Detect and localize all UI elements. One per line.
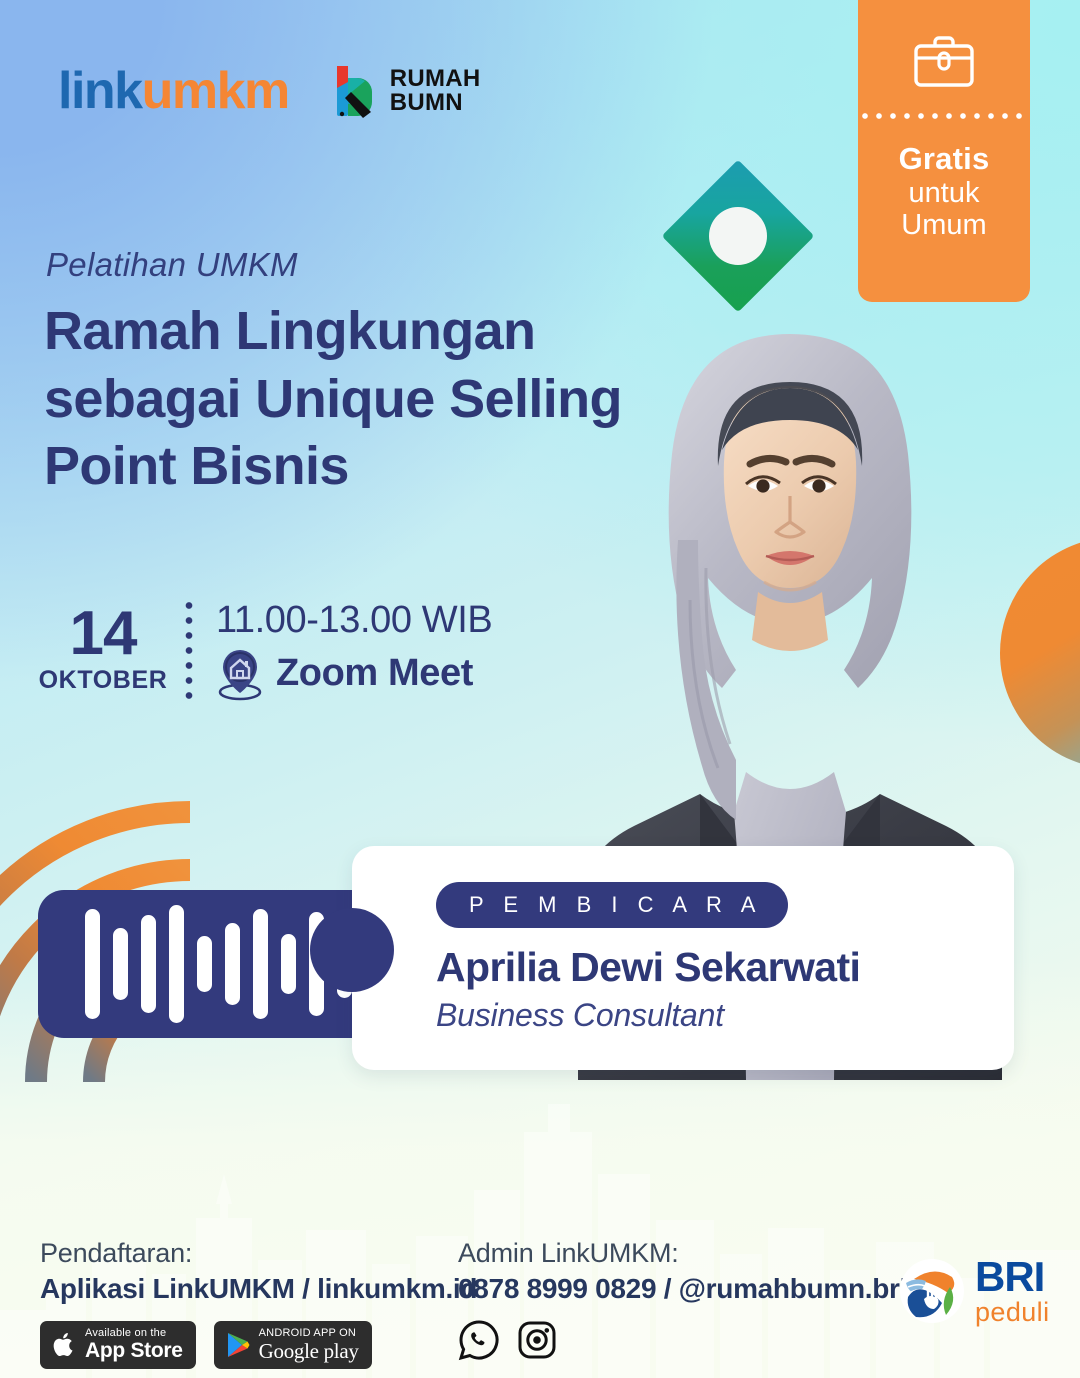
bri-peduli-mark-icon bbox=[898, 1257, 966, 1325]
waveform-bar-2 bbox=[113, 928, 128, 999]
vertical-dotted-divider-icon bbox=[184, 598, 194, 704]
googleplay-text: ANDROID APP ON Google play bbox=[259, 1328, 359, 1362]
waveform-bar-4 bbox=[169, 905, 184, 1023]
poster-canvas: linkumkm RUMAH BUMN bbox=[0, 0, 1080, 1378]
event-time: 11.00-13.00 WIB bbox=[216, 600, 492, 642]
google-play-icon bbox=[225, 1330, 251, 1360]
app-store-badges: Available on the App Store ANDROID APP O… bbox=[40, 1321, 477, 1369]
registration-value: Aplikasi LinkUMKM / linkumkm.id bbox=[40, 1273, 477, 1305]
bri-peduli-text: BRI peduli bbox=[975, 1256, 1049, 1326]
rumah-line-2: BUMN bbox=[390, 91, 481, 115]
waveform-bar-3 bbox=[141, 915, 156, 1013]
waveform-bar-1 bbox=[85, 909, 100, 1019]
event-platform: Zoom Meet bbox=[276, 652, 473, 695]
googleplay-big-text: Google play bbox=[259, 1340, 359, 1362]
appstore-big-text: App Store bbox=[85, 1340, 183, 1362]
bri-line-2: peduli bbox=[975, 1299, 1049, 1326]
event-time-place: 11.00-13.00 WIB Zoom Meet bbox=[216, 600, 492, 702]
waveform-bar-6 bbox=[225, 923, 240, 1006]
linkumkm-part1: link bbox=[58, 62, 142, 120]
map-pin-house-icon bbox=[216, 646, 264, 702]
bri-line-1: BRI bbox=[975, 1256, 1049, 1298]
linkumkm-part2: umkm bbox=[142, 62, 289, 120]
googleplay-button[interactable]: ANDROID APP ON Google play bbox=[214, 1321, 372, 1369]
registration-label: Pendaftaran: bbox=[40, 1238, 477, 1269]
speaker-name: Aprilia Dewi Sekarwati bbox=[436, 944, 1014, 991]
event-datetime-block: 14 OKTOBER 11.00-13.00 WIB Zoom Meet bbox=[28, 598, 492, 704]
badge-line-2: untuk bbox=[899, 177, 990, 209]
badge-line-3: Umum bbox=[899, 209, 990, 241]
rumah-bumn-logo[interactable]: RUMAH BUMN bbox=[329, 62, 481, 120]
social-icons-row bbox=[458, 1319, 907, 1361]
headline-kicker: Pelatihan UMKM bbox=[46, 246, 298, 284]
linkumkm-wordmark-icon[interactable]: linkumkm bbox=[58, 65, 289, 117]
waveform-bar-7 bbox=[253, 909, 268, 1019]
registration-block: Pendaftaran: Aplikasi LinkUMKM / linkumk… bbox=[40, 1238, 477, 1369]
apple-icon bbox=[51, 1330, 77, 1360]
speaker-card: P E M B I C A R A Aprilia Dewi Sekarwati… bbox=[352, 846, 1014, 1070]
badge-text: Gratis untuk Umum bbox=[899, 142, 990, 242]
bri-peduli-logo: BRI peduli bbox=[898, 1256, 1049, 1326]
briefcase-icon bbox=[913, 34, 975, 88]
rumah-line-1: RUMAH bbox=[390, 67, 481, 91]
speaker-role: Business Consultant bbox=[436, 997, 1014, 1034]
admin-value: 0878 8999 0829 / @rumahbumn.bri bbox=[458, 1273, 907, 1305]
appstore-button[interactable]: Available on the App Store bbox=[40, 1321, 196, 1369]
logo-row: linkumkm RUMAH BUMN bbox=[58, 62, 481, 120]
badge-dotted-divider bbox=[858, 112, 1030, 120]
rumah-bumn-mark-icon bbox=[329, 62, 379, 120]
event-date: 14 OKTOBER bbox=[28, 607, 178, 695]
event-date-month: OKTOBER bbox=[28, 666, 178, 695]
speaker-label-badge: P E M B I C A R A bbox=[436, 882, 788, 928]
rumah-bumn-text: RUMAH BUMN bbox=[390, 67, 481, 116]
admin-label: Admin LinkUMKM: bbox=[458, 1238, 907, 1269]
waveform-bar-5 bbox=[197, 936, 212, 992]
instagram-icon[interactable] bbox=[516, 1319, 558, 1361]
gratis-badge: Gratis untuk Umum bbox=[858, 0, 1030, 302]
waveform-bar-8 bbox=[281, 934, 296, 993]
event-place-row: Zoom Meet bbox=[216, 646, 492, 702]
badge-line-1: Gratis bbox=[899, 142, 990, 177]
admin-contact-block: Admin LinkUMKM: 0878 8999 0829 / @rumahb… bbox=[458, 1238, 907, 1361]
whatsapp-icon[interactable] bbox=[458, 1319, 500, 1361]
appstore-text: Available on the App Store bbox=[85, 1328, 183, 1362]
event-date-number: 14 bbox=[28, 607, 178, 662]
